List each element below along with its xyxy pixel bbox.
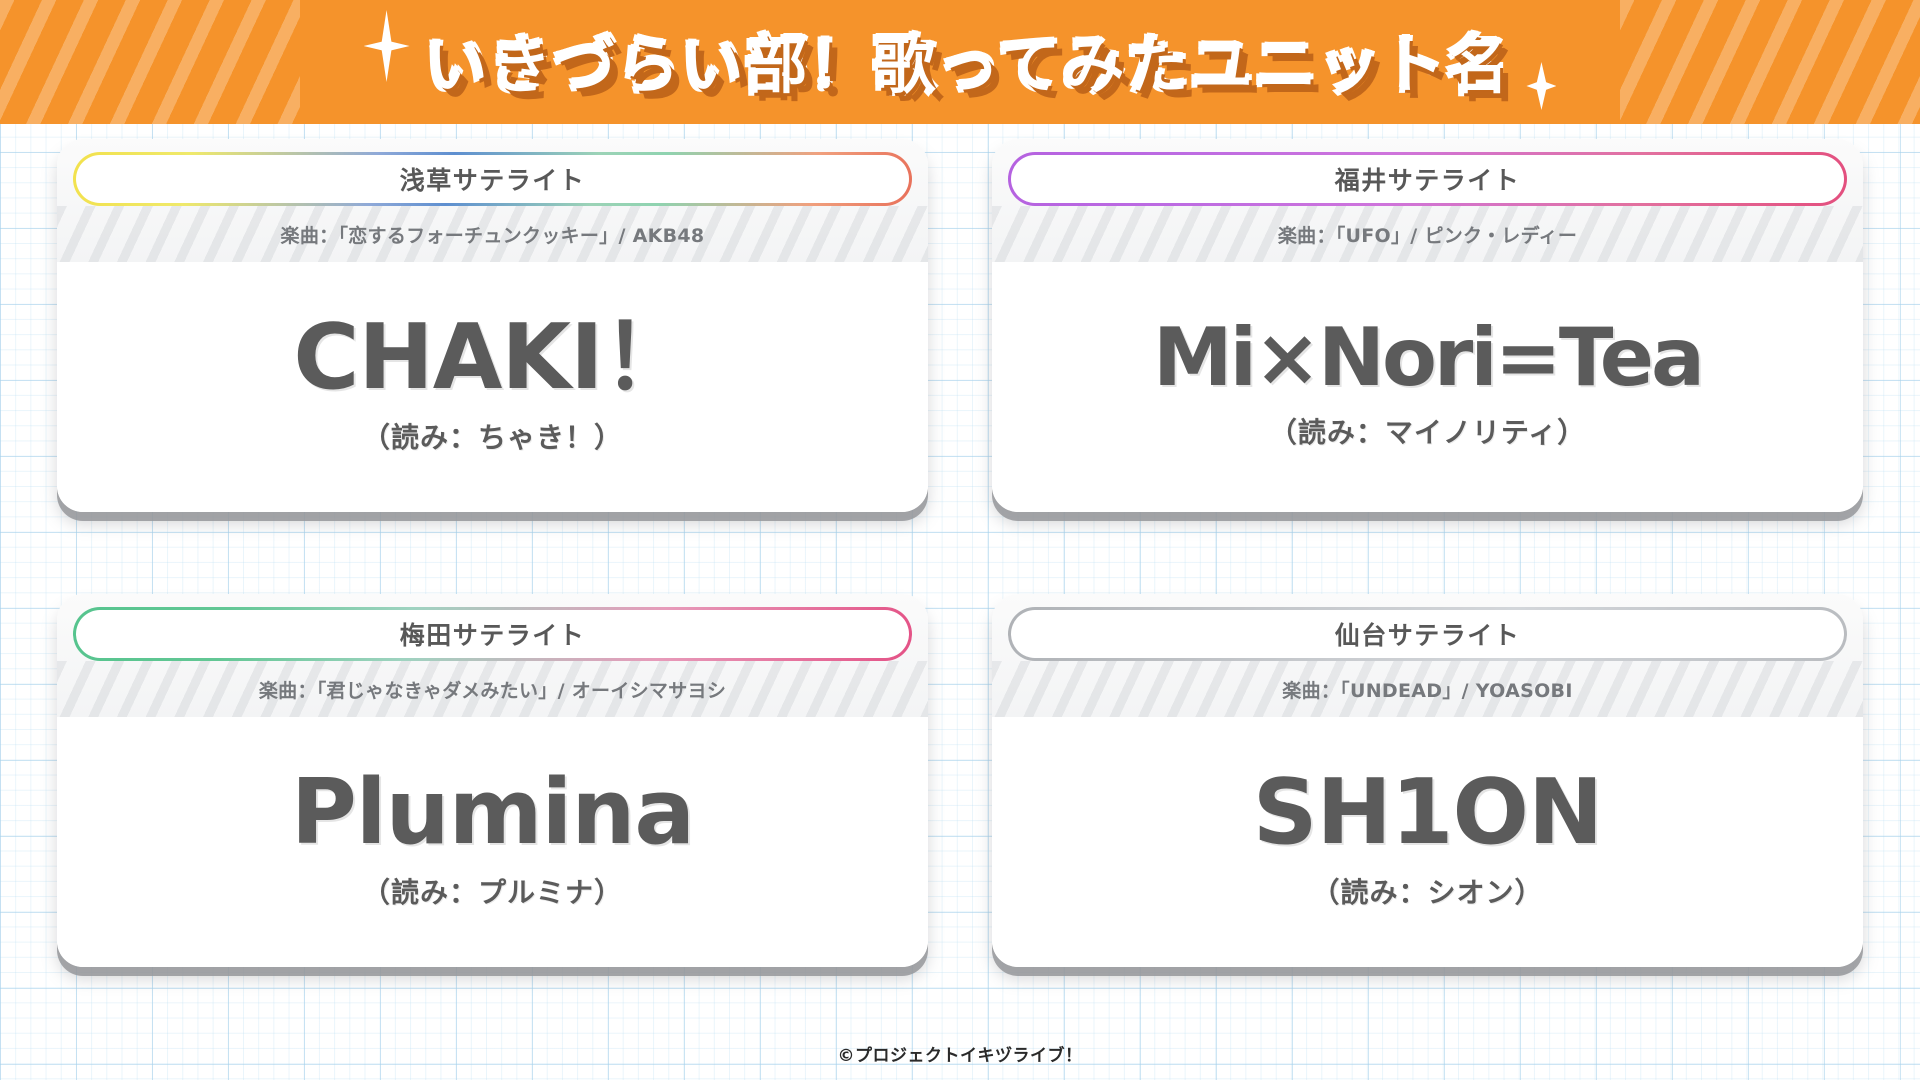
card-header: 福井サテライト 楽曲：「UFO」/ ピンク・レディー — [992, 139, 1863, 262]
card-body: SH1ON （読み：シオン） — [992, 717, 1863, 967]
team-name-label: 浅草サテライト — [400, 161, 586, 197]
card-header: 仙台サテライト 楽曲：「UNDEAD」/ YOASOBI — [992, 594, 1863, 717]
card-header: 梅田サテライト 楽曲：「君じゃなきゃダメみたい」/ オーイシマサヨシ — [57, 594, 928, 717]
card-body: Plumina （読み：プルミナ） — [57, 717, 928, 967]
footer: ©プロジェクトイキヅライブ！ — [0, 1041, 1920, 1066]
unit-reading: （読み：プルミナ） — [362, 871, 623, 911]
card-header: 浅草サテライト 楽曲：「恋するフォーチュンクッキー」/ AKB48 — [57, 139, 928, 262]
sparkle-icon-left — [364, 10, 410, 82]
unit-name: Plumina — [291, 767, 694, 859]
song-info-band: 楽曲：「UFO」/ ピンク・レディー — [1008, 206, 1847, 262]
unit-name: SH1ON — [1253, 767, 1603, 859]
team-name-pill: 福井サテライト — [1008, 152, 1847, 206]
unit-card[interactable]: 仙台サテライト 楽曲：「UNDEAD」/ YOASOBI SH1ON （読み：シ… — [992, 594, 1863, 967]
song-info-band: 楽曲：「恋するフォーチュンクッキー」/ AKB48 — [73, 206, 912, 262]
card-body: CHAKI！ （読み：ちゃき！） — [57, 262, 928, 512]
team-name-pill: 仙台サテライト — [1008, 607, 1847, 661]
song-info-band: 楽曲：「君じゃなきゃダメみたい」/ オーイシマサヨシ — [73, 661, 912, 717]
unit-card[interactable]: 浅草サテライト 楽曲：「恋するフォーチュンクッキー」/ AKB48 CHAKI！… — [57, 139, 928, 512]
copyright-label: ©プロジェクトイキヅライブ！ — [838, 1046, 1083, 1066]
unit-card[interactable]: 梅田サテライト 楽曲：「君じゃなきゃダメみたい」/ オーイシマサヨシ Plumi… — [57, 594, 928, 967]
team-name-label: 仙台サテライト — [1335, 616, 1521, 652]
song-info-label: 楽曲：「UFO」/ ピンク・レディー — [1278, 221, 1577, 248]
page-title: いきづらい部！歌ってみたユニット名 — [426, 15, 1511, 105]
header-banner: いきづらい部！歌ってみたユニット名 — [0, 0, 1920, 124]
card-body: Mi×Nori=Tea （読み：マイノリティ） — [992, 262, 1863, 512]
unit-name: Mi×Nori=Tea — [1153, 317, 1702, 399]
song-info-label: 楽曲：「UNDEAD」/ YOASOBI — [1282, 676, 1572, 703]
song-info-label: 楽曲：「恋するフォーチュンクッキー」/ AKB48 — [281, 221, 705, 248]
unit-card[interactable]: 福井サテライト 楽曲：「UFO」/ ピンク・レディー Mi×Nori=Tea （… — [992, 139, 1863, 512]
unit-card-grid: 浅草サテライト 楽曲：「恋するフォーチュンクッキー」/ AKB48 CHAKI！… — [0, 124, 1920, 1034]
unit-reading: （読み：シオン） — [1311, 871, 1543, 911]
team-name-label: 福井サテライト — [1335, 161, 1521, 197]
unit-reading: （読み：ちゃき！） — [362, 416, 623, 456]
team-name-pill: 浅草サテライト — [73, 152, 912, 206]
team-name-label: 梅田サテライト — [400, 616, 586, 652]
unit-name: CHAKI！ — [293, 312, 691, 404]
unit-reading: （読み：マイノリティ） — [1269, 411, 1586, 451]
song-info-label: 楽曲：「君じゃなきゃダメみたい」/ オーイシマサヨシ — [259, 676, 726, 703]
song-info-band: 楽曲：「UNDEAD」/ YOASOBI — [1008, 661, 1847, 717]
team-name-pill: 梅田サテライト — [73, 607, 912, 661]
sparkle-icon-right — [1526, 62, 1556, 110]
